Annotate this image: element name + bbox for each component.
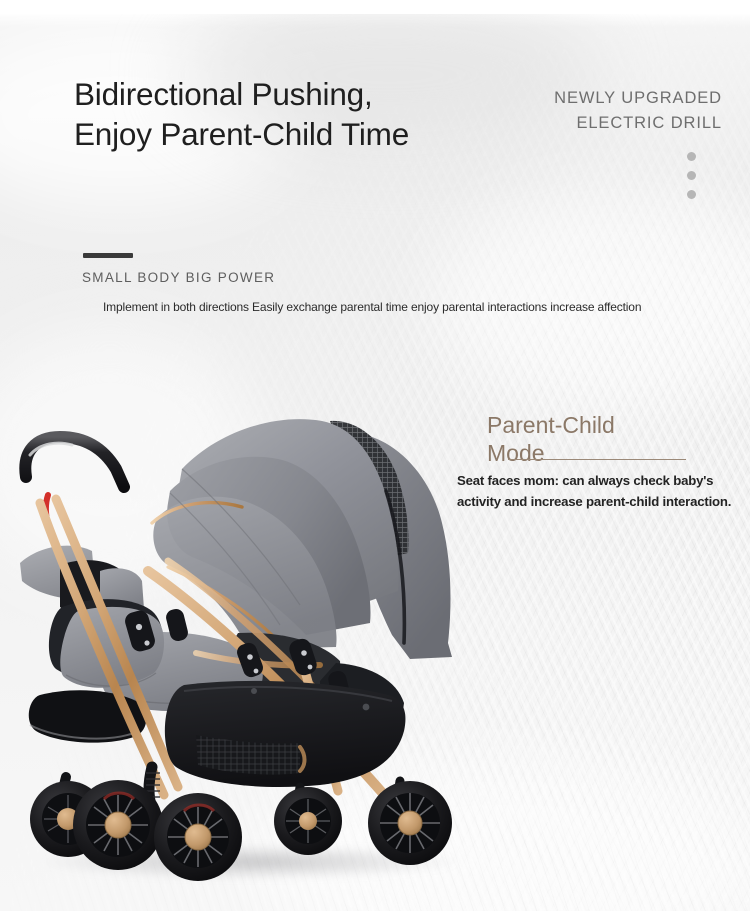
page-title: Bidirectional Pushing, Enjoy Parent-Chil…: [74, 74, 504, 154]
wheel-front-right: [154, 793, 242, 881]
handle-grip: [25, 437, 124, 487]
dot-indicator-2: [687, 171, 696, 180]
promo-banner: Bidirectional Pushing, Enjoy Parent-Chil…: [0, 0, 750, 911]
dot-indicator-3: [687, 190, 696, 199]
product-image-stroller: [0, 395, 520, 911]
top-highlight-strip: [0, 0, 750, 14]
description-text: Implement in both directions Easily exch…: [103, 300, 641, 314]
wheel-far-right: [368, 781, 452, 865]
basket-snap: [251, 688, 257, 694]
wheel-rear-right: [274, 787, 342, 855]
kicker-text: NEWLY UPGRADED ELECTRIC DRILL: [482, 86, 722, 136]
dot-indicator-group: [687, 152, 696, 199]
subtitle-rule: [83, 253, 133, 258]
basket-snap: [363, 704, 370, 711]
subtitle: SMALL BODY BIG POWER: [82, 270, 275, 285]
mode-title-rule: [508, 459, 686, 460]
wheel-front-left: [73, 780, 163, 870]
dot-indicator-1: [687, 152, 696, 161]
